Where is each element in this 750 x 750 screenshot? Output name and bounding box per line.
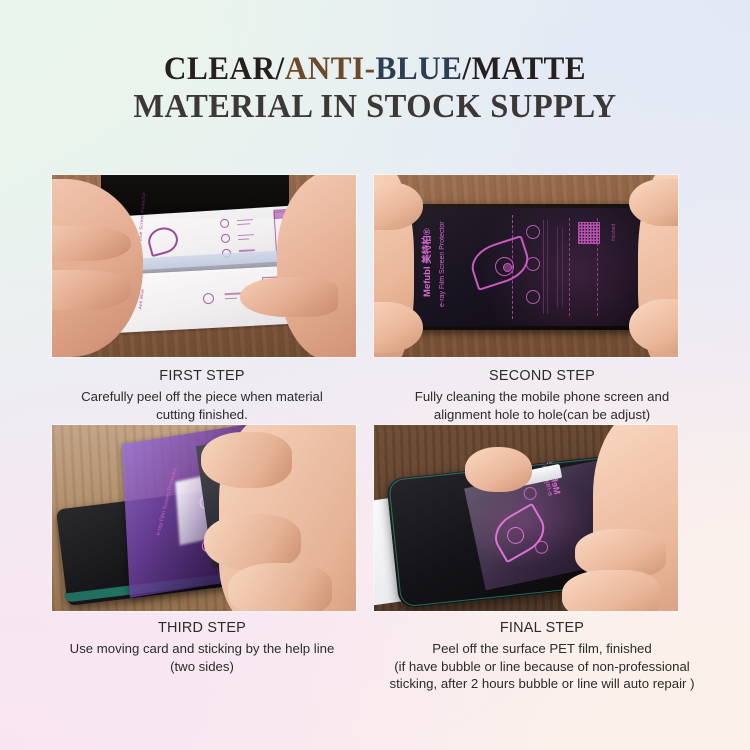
caption-first-step: FIRST STEP Carefully peel off the piece … <box>32 367 372 423</box>
caption-line-1: Carefully peel off the piece when materi… <box>32 388 372 406</box>
caption-line-2: cutting finished. <box>32 406 372 424</box>
page-title-line-2: MATERIAL IN STOCK SUPPLY <box>11 89 739 125</box>
caption-third-step: THIRD STEP Use moving card and sticking … <box>32 619 372 675</box>
caption-line-3: sticking, after 2 hours bubble or line w… <box>372 675 712 693</box>
step-cell-first: Anti Blue Screen Protector Anti Blue <box>52 175 356 357</box>
print-line-6 <box>224 292 241 294</box>
warning-icon-4 <box>203 293 215 305</box>
film-signature-text: finished <box>611 224 617 241</box>
film-text-column-4 <box>562 227 563 307</box>
warning-icon-2 <box>221 234 231 244</box>
step-cell-final: Mefubl 美特柏® e-ray Film Screen Protector <box>374 425 678 611</box>
caption-line-1: Use moving card and sticking by the help… <box>32 640 372 658</box>
no-water-icon <box>526 290 540 304</box>
film-text-column-2 <box>547 220 548 314</box>
no-heat-icon <box>526 225 540 239</box>
film-panel-border-left <box>569 218 570 317</box>
step-photo-third-step: e-ray Film Screen Protector <box>52 425 356 611</box>
no-water-icon <box>534 540 549 555</box>
step-cell-third: e-ray Film Screen Protector <box>52 425 356 611</box>
film-panel-border-right <box>597 218 598 317</box>
title-segment-matte: /MATTE <box>462 51 586 87</box>
warning-icon-1 <box>220 219 230 229</box>
caption-title: THIRD STEP <box>32 619 372 638</box>
caption-title: SECOND STEP <box>372 367 712 386</box>
caption-title: FINAL STEP <box>372 619 712 638</box>
print-line-7 <box>224 297 236 299</box>
right-fingers <box>240 277 337 317</box>
page-title: CLEAR/ANTI-BLUE/MATTE MATERIAL IN STOCK … <box>0 52 750 125</box>
step-photo-final-step: Mefubl 美特柏® e-ray Film Screen Protector <box>374 425 678 611</box>
film-text-column-3 <box>557 227 558 307</box>
title-segment-anti: ANTI <box>285 51 365 87</box>
print-line-1 <box>238 219 254 221</box>
title-segment-blue: BLUE <box>376 51 463 87</box>
left-index-finger <box>52 226 131 261</box>
middle-finger <box>562 570 659 611</box>
caption-title: FIRST STEP <box>32 367 372 386</box>
thumb <box>465 447 532 492</box>
caption-line-2: alignment hole to hole(can be adjust) <box>372 406 712 424</box>
step-photo-second-step: Mefubl 美特柏® e-ray Film Screen Protector <box>374 175 678 357</box>
no-heat-icon <box>523 487 538 502</box>
film-print-text: e-ray Film Screen Protector <box>156 467 179 535</box>
caption-line-1: Peel off the surface PET film, finished <box>372 640 712 658</box>
title-segment-hyphen: - <box>365 51 376 87</box>
film-product-text: e-ray Film Screen Protector <box>439 221 446 307</box>
film-text-column-1 <box>543 220 544 314</box>
film-dashed-divider <box>512 215 513 318</box>
brand-logo-icon <box>146 225 182 258</box>
caption-line-2: (if have bubble or line because of non-p… <box>372 658 712 676</box>
smartphone: Mefubl 美特柏® e-ray Film Screen Protector <box>401 204 650 330</box>
left-thumb <box>52 270 131 310</box>
print-line-3 <box>239 235 255 237</box>
caption-final-step: FINAL STEP Peel off the surface PET film… <box>372 619 712 693</box>
film-brand-text: Mefubl 美特柏® <box>419 229 433 298</box>
index-finger <box>201 432 292 488</box>
print-line-4 <box>239 239 250 241</box>
step-cell-second: Mefubl 美特柏® e-ray Film Screen Protector <box>374 175 678 357</box>
step-photo-first-step: Anti Blue Screen Protector Anti Blue <box>52 175 356 357</box>
ring-finger <box>228 563 331 611</box>
caption-second-step: SECOND STEP Fully cleaning the mobile ph… <box>372 367 712 423</box>
no-scratch-icon <box>526 257 540 271</box>
product-infographic-page: CLEAR/ANTI-BLUE/MATTE MATERIAL IN STOCK … <box>0 0 750 750</box>
caption-line-1: Fully cleaning the mobile phone screen a… <box>372 388 712 406</box>
page-title-line-1: CLEAR/ANTI-BLUE/MATTE <box>15 52 735 87</box>
title-segment-clear: CLEAR/ <box>164 51 285 87</box>
print-line-2 <box>238 223 251 225</box>
phone-screen: Mefubl 美特柏® e-ray Film Screen Protector <box>407 208 644 326</box>
caption-line-2: (two sides) <box>32 658 372 676</box>
middle-finger <box>204 514 301 570</box>
